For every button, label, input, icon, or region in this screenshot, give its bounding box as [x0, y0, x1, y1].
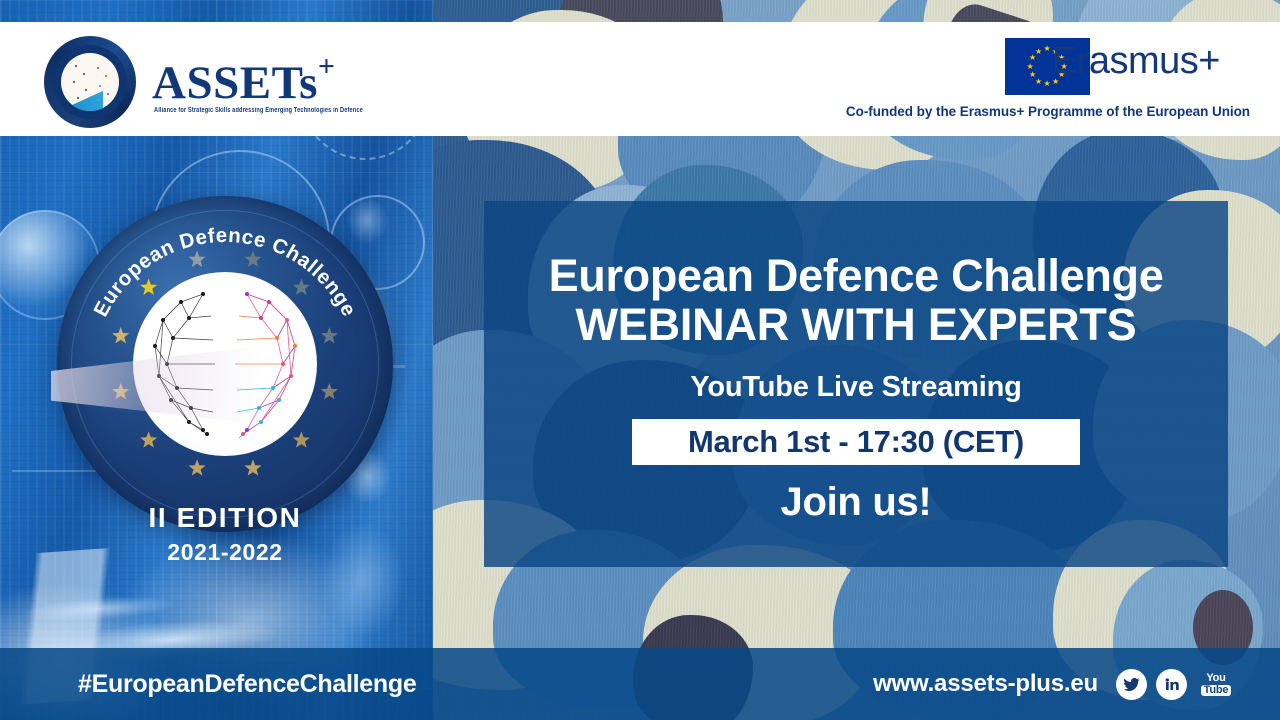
erasmus-wordmark: Erasmus+ [1052, 40, 1220, 83]
footer-right-group: www.assets-plus.eu You Tube [873, 667, 1236, 701]
header-bar: ASSETs+ Alliance for Strategic Skills ad… [0, 22, 1280, 136]
event-cta: Join us! [781, 480, 932, 525]
european-defence-challenge-emblem: European Defence Challenge [57, 196, 393, 532]
social-links: You Tube [1116, 667, 1236, 701]
twitter-icon[interactable] [1116, 669, 1147, 700]
assets-wordmark: ASSETs+ [152, 52, 336, 107]
linkedin-icon[interactable] [1156, 669, 1187, 700]
edition-caption: II EDITION 2021-2022 [57, 502, 393, 566]
edition-years: 2021-2022 [57, 539, 393, 566]
footer-bar: #EuropeanDefenceChallenge www.assets-plu… [0, 648, 1280, 720]
event-date-badge: March 1st - 17:30 (CET) [632, 419, 1080, 465]
cofunded-statement: Co-funded by the Erasmus+ Programme of t… [780, 104, 1250, 119]
network-brain-icon [133, 272, 317, 456]
website-link[interactable]: www.assets-plus.eu [873, 670, 1098, 698]
assets-plus-brain-logo-icon [44, 36, 136, 128]
assets-tagline: Alliance for Strategic Skills addressing… [154, 107, 384, 115]
event-title-line1: European Defence Challenge [549, 253, 1164, 300]
erasmus-plus-logo[interactable]: ★ ★ ★ ★ ★ ★ ★ ★ ★ ★ ★ ★ Erasmus+ Co-fund… [780, 32, 1250, 130]
youtube-icon-bottom: Tube [1201, 685, 1232, 696]
youtube-icon-top: You [1206, 673, 1225, 684]
edition-number: II EDITION [57, 502, 393, 534]
poster-canvas: ASSETs+ Alliance for Strategic Skills ad… [0, 0, 1280, 720]
hashtag-label: #EuropeanDefenceChallenge [78, 670, 416, 699]
assets-plus-logo[interactable]: ASSETs+ Alliance for Strategic Skills ad… [44, 30, 344, 130]
event-subtitle: YouTube Live Streaming [690, 371, 1021, 404]
youtube-icon[interactable]: You Tube [1196, 667, 1236, 701]
event-title-line2: WEBINAR WITH EXPERTS [575, 302, 1136, 349]
event-info-panel: European Defence Challenge WEBINAR WITH … [484, 201, 1228, 567]
